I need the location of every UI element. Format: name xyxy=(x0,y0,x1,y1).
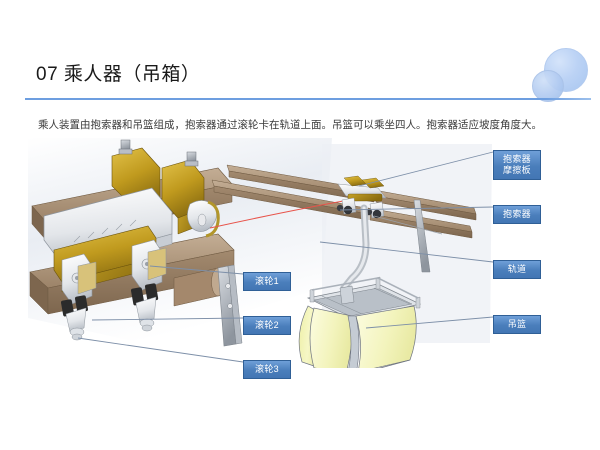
callout-gripper-friction-plate[interactable]: 抱索器 摩擦板 xyxy=(493,150,541,180)
callout-line-2: 摩擦板 xyxy=(503,165,531,176)
slide-subtitle: 乘人装置由抱索器和吊篮组成，抱索器通过滚轮卡在轨道上面。吊篮可以乘坐四人。抱索器… xyxy=(38,118,578,133)
callout-line-1: 抱索器 xyxy=(503,154,531,165)
page-title: 07 乘人器（吊箱） xyxy=(36,59,200,86)
callout-track[interactable]: 轨道 xyxy=(493,260,541,279)
callout-roller-3[interactable]: 滚轮3 xyxy=(243,360,291,379)
callout-roller-2[interactable]: 滚轮2 xyxy=(243,316,291,335)
callout-basket[interactable]: 吊篮 xyxy=(493,315,541,334)
basket-cabin xyxy=(299,277,420,368)
callout-line-1: 抱索器 xyxy=(503,209,531,220)
callout-line-1: 轨道 xyxy=(508,264,527,275)
callout-line-1: 滚轮2 xyxy=(255,320,279,331)
callout-line-1: 滚轮3 xyxy=(255,364,279,375)
slide-root: 07 乘人器（吊箱） 乘人装置由抱索器和吊篮组成，抱索器通过滚轮卡在轨道上面。吊… xyxy=(0,0,600,450)
callout-line-1: 吊篮 xyxy=(508,319,527,330)
callout-gripper[interactable]: 抱索器 xyxy=(493,205,541,224)
header-decoration xyxy=(524,42,594,104)
title-divider xyxy=(25,98,591,100)
callout-line-1: 滚轮1 xyxy=(255,276,279,287)
callout-roller-1[interactable]: 滚轮1 xyxy=(243,272,291,291)
